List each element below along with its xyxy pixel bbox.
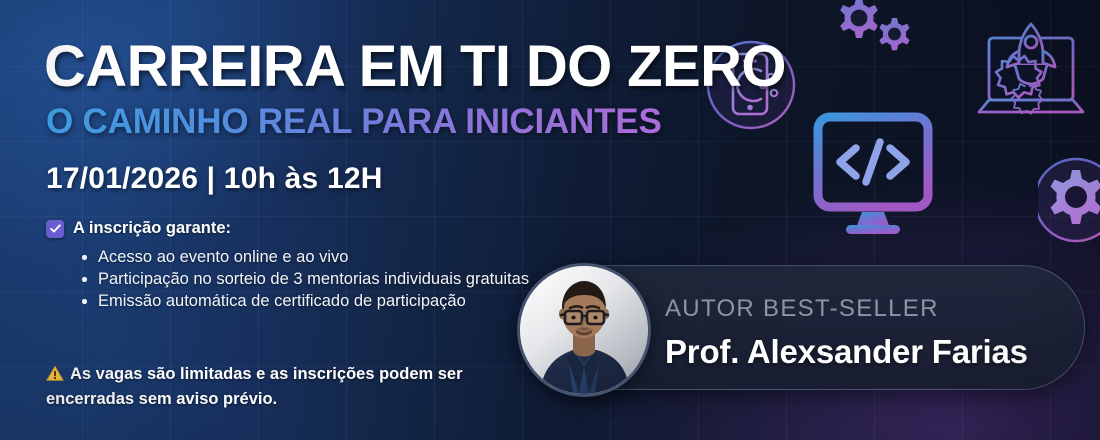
benefits-list: Acesso ao evento online e ao vivo Partic…: [78, 247, 598, 313]
gears-icon: [826, 0, 924, 60]
warning-triangle-icon: [46, 365, 64, 389]
warning-text: As vagas são limitadas e as inscrições p…: [46, 365, 463, 408]
warning-notice: As vagas são limitadas e as inscrições p…: [46, 364, 546, 411]
rocket-laptop-icon: [972, 18, 1090, 132]
list-item: Acesso ao evento online e ao vivo: [78, 247, 598, 268]
author-name: Prof. Alexsander Farias: [665, 333, 1028, 371]
page-subtitle: O CAMINHO REAL PARA INICIANTES: [46, 104, 662, 139]
event-banner: CARREIRA EM TI DO ZERO O CAMINHO REAL PA…: [0, 0, 1100, 440]
gear-circle-icon: [1038, 148, 1100, 252]
list-item: Participação no sorteio de 3 mentorias i…: [78, 269, 598, 290]
page-title: CARREIRA EM TI DO ZERO: [44, 38, 786, 96]
code-monitor-icon: [812, 112, 934, 238]
author-avatar: [517, 263, 651, 397]
author-role: AUTOR BEST-SELLER: [665, 295, 939, 323]
check-icon: [46, 220, 64, 238]
guarantee-label: A inscrição garante:: [73, 219, 231, 238]
guarantee-row: A inscrição garante:: [46, 219, 231, 238]
event-datetime: 17/01/2026 | 10h às 12H: [46, 162, 383, 196]
